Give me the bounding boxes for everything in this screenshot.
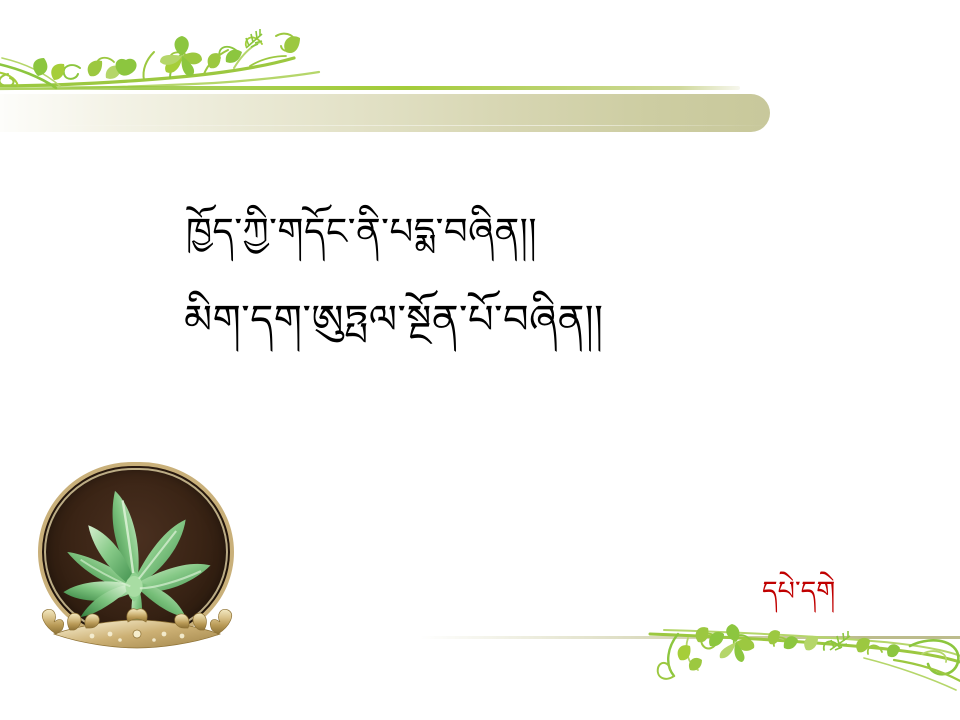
- gold-scrollwork-ornament: [32, 600, 242, 656]
- signature-text: དཔེ་དགེ: [762, 574, 835, 610]
- oval-plant-photo: [38, 462, 234, 654]
- vine-flourish-top-left: [0, 28, 324, 92]
- banner-accent-line: [0, 86, 740, 90]
- verse-text-block: ཁྱོད་ཀྱི་གདོང་ནི་པདྨ་བཞིན།། མིག་དག་ཨུཏྤལ…: [150, 205, 790, 349]
- vine-bottom-right-icon: [644, 620, 960, 692]
- verse-line-2: མིག་དག་ཨུཏྤལ་སྔོན་པོ་བཞིན།།: [150, 291, 790, 349]
- scrollwork-icon: [32, 600, 242, 656]
- slide-canvas: ཁྱོད་ཀྱི་གདོང་ནི་པདྨ་བཞིན།། མིག་དག་ཨུཏྤལ…: [0, 0, 960, 720]
- top-banner: [0, 86, 770, 134]
- verse-line-1: ཁྱོད་ཀྱི་གདོང་ནི་པདྨ་བཞིན།།: [150, 205, 790, 259]
- vine-top-left-icon: [0, 28, 324, 92]
- vine-flourish-bottom-right: [644, 620, 960, 692]
- banner-band: [0, 94, 770, 132]
